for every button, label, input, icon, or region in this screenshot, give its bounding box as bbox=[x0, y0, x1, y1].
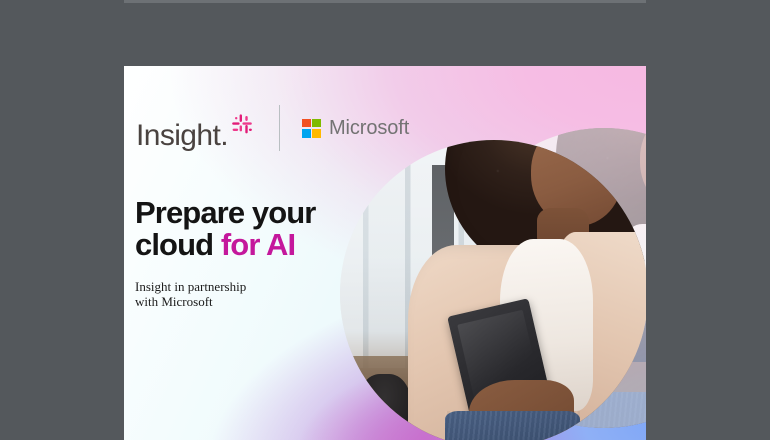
logo-divider bbox=[279, 105, 280, 151]
microsoft-squares-icon bbox=[302, 119, 321, 138]
screenshot-stage: Insight. bbox=[0, 0, 770, 440]
banner-subline: Insight in partnership with Microsoft bbox=[135, 279, 246, 310]
page-top-edge-strip bbox=[124, 0, 646, 3]
headline-line-1: Prepare your bbox=[135, 195, 315, 230]
logo-lockup-row: Insight. bbox=[136, 104, 409, 152]
insight-wordmark: Insight. bbox=[136, 121, 228, 151]
banner-content: Insight. bbox=[124, 66, 646, 440]
microsoft-logo[interactable]: Microsoft bbox=[302, 118, 409, 138]
insight-wordmark-dot: . bbox=[220, 119, 228, 152]
insight-mark-icon bbox=[229, 114, 255, 140]
microsoft-wordmark: Microsoft bbox=[329, 118, 409, 138]
headline-line-2-plain: cloud bbox=[135, 227, 221, 262]
insight-logo[interactable]: Insight. bbox=[136, 113, 255, 143]
headline-line-2-accent: for AI bbox=[221, 227, 295, 262]
prepare-your-cloud-for-ai-banner[interactable]: Insight. bbox=[124, 66, 646, 440]
banner-headline: Prepare yourcloud for AI bbox=[135, 197, 315, 261]
